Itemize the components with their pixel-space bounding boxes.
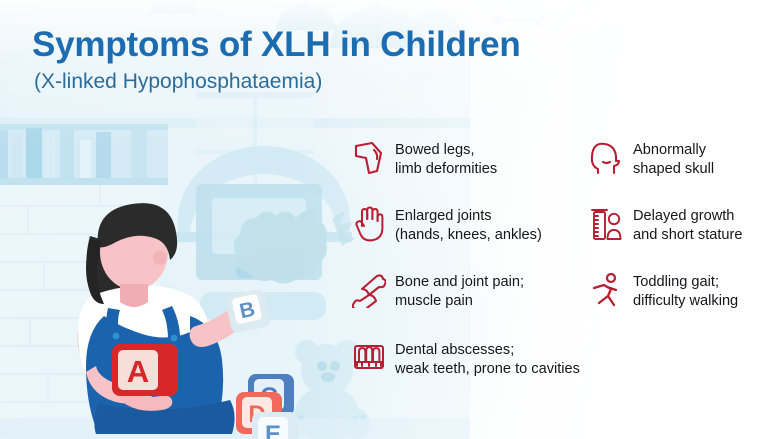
symptom-item-bowed-legs: Bowed legs, limb deformities [352, 140, 497, 180]
growth-ruler-person-icon [590, 206, 624, 242]
bone-joint-pain-icon [352, 272, 386, 308]
symptom-text: Bone and joint pain; muscle pain [395, 272, 524, 312]
symptom-line-1: Abnormally [633, 141, 714, 160]
svg-text:A: A [127, 354, 149, 389]
infographic-canvas: Symptoms of XLH in Children (X-linked Hy… [0, 0, 780, 439]
teeth-gums-icon [352, 340, 386, 376]
head-skull-profile-icon [590, 140, 624, 176]
symptom-text: Enlarged joints (hands, knees, ankles) [395, 206, 542, 246]
symptom-item-delayed-growth: Delayed growth and short stature [590, 206, 743, 246]
page-subtitle: (X-linked Hypophosphataemia) [34, 70, 521, 93]
symptom-item-enlarged-joints: Enlarged joints (hands, knees, ankles) [352, 206, 542, 246]
bowed-leg-bone-icon [352, 140, 386, 176]
symptom-line-2: muscle pain [395, 292, 524, 311]
symptom-text: Abnormally shaped skull [633, 140, 714, 180]
block-e: E [252, 412, 298, 439]
walking-person-icon [590, 272, 624, 308]
symptom-line-1: Bone and joint pain; [395, 273, 524, 292]
symptom-line-2: weak teeth, prone to cavities [395, 360, 580, 379]
symptom-text: Delayed growth and short stature [633, 206, 743, 246]
block-a: A [112, 344, 178, 396]
symptom-list: Bowed legs, limb deformities Enlarged jo… [352, 132, 780, 402]
symptom-line-1: Delayed growth [633, 207, 743, 226]
symptom-line-1: Bowed legs, [395, 141, 497, 160]
symptom-item-toddling-gait: Toddling gait; difficulty walking [590, 272, 738, 312]
symptom-item-abnormal-skull: Abnormally shaped skull [590, 140, 714, 180]
svg-text:E: E [265, 421, 281, 439]
symptom-item-dental-abscesses: Dental abscesses; weak teeth, prone to c… [352, 340, 580, 380]
symptom-item-bone-joint-pain: Bone and joint pain; muscle pain [352, 272, 524, 312]
symptom-line-1: Dental abscesses; [395, 341, 580, 360]
header-block: Symptoms of XLH in Children (X-linked Hy… [32, 26, 521, 93]
page-title: Symptoms of XLH in Children [32, 26, 521, 64]
symptom-line-2: (hands, knees, ankles) [395, 226, 542, 245]
hand-joints-icon [352, 206, 386, 242]
symptom-line-2: limb deformities [395, 160, 497, 179]
block-b: B [224, 288, 271, 333]
child-playing-with-blocks-illustration: B A C D E [46, 196, 346, 439]
symptom-line-2: shaped skull [633, 160, 714, 179]
symptom-line-1: Toddling gait; [633, 273, 738, 292]
symptom-line-2: and short stature [633, 226, 743, 245]
symptom-text: Bowed legs, limb deformities [395, 140, 497, 180]
symptom-text: Dental abscesses; weak teeth, prone to c… [395, 340, 580, 380]
symptom-text: Toddling gait; difficulty walking [633, 272, 738, 312]
symptom-line-1: Enlarged joints [395, 207, 542, 226]
symptom-line-2: difficulty walking [633, 292, 738, 311]
